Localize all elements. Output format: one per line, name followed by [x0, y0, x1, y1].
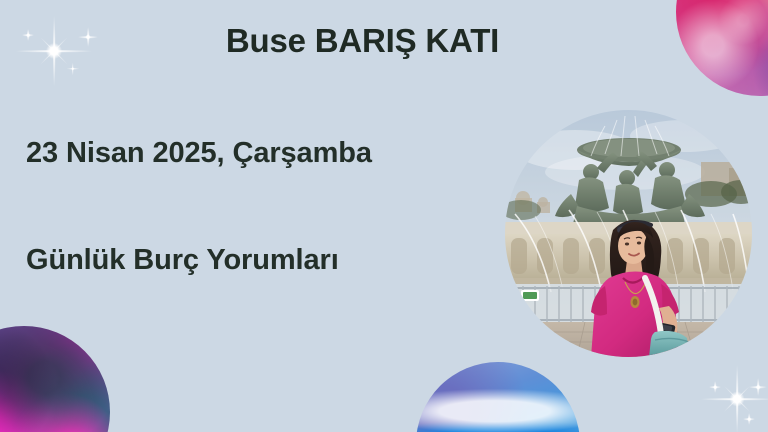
sparkle-star-small-icon — [709, 381, 721, 393]
portrait-photo — [505, 110, 752, 357]
date-label: 23 Nisan 2025, Çarşamba — [26, 136, 372, 171]
sparkle-star-small-icon — [743, 413, 755, 425]
page-title: Buse BARIŞ KATI — [0, 22, 725, 60]
sparkle-star-small-icon — [749, 378, 767, 396]
subject-label: Günlük Burç Yorumları — [26, 243, 339, 278]
portrait-photo-graphic — [505, 110, 752, 357]
sparkle-star-icon — [700, 362, 768, 432]
sparkle-star-small-icon — [66, 62, 79, 75]
slide-canvas: Buse BARIŞ KATI 23 Nisan 2025, Çarşamba … — [0, 0, 768, 432]
blue-watercolor-circle-icon — [416, 362, 580, 432]
purple-galaxy-circle-icon — [0, 326, 110, 432]
